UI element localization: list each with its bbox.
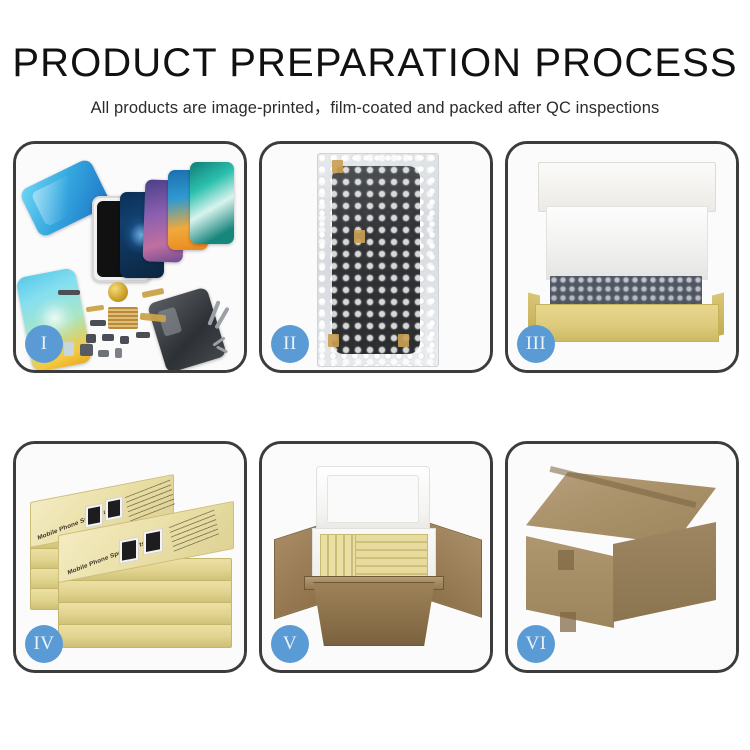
flex-cable [140, 313, 167, 323]
spare-part-chip [136, 332, 150, 338]
phone-display-teal [190, 162, 234, 244]
box-lid [538, 162, 716, 212]
carton-front [308, 582, 440, 646]
spare-part-chip [120, 336, 129, 344]
process-step-5[interactable]: V [259, 441, 493, 673]
tape-piece [354, 230, 365, 243]
step-badge-3: III [517, 325, 555, 363]
box-thumbnail [85, 503, 103, 528]
process-step-3[interactable]: III [505, 141, 739, 373]
page-root: PRODUCT PREPARATION PROCESS All products… [0, 0, 750, 750]
step-badge-1: I [25, 325, 63, 363]
box-stack: Mobile Phone Spare Parts Mobile Phone Sp… [28, 466, 234, 652]
header: PRODUCT PREPARATION PROCESS All products… [0, 0, 750, 118]
page-title: PRODUCT PREPARATION PROCESS [0, 0, 750, 84]
spare-part-chip [90, 320, 106, 326]
box-thumbnail [105, 496, 123, 521]
tape-piece [328, 334, 339, 347]
logic-board-chip [108, 307, 138, 329]
spare-part-chip [102, 334, 114, 341]
box-thumbnail [119, 536, 139, 564]
phone-back-housing [147, 287, 227, 373]
stacked-box [58, 580, 232, 604]
styrofoam-lid [316, 466, 430, 534]
flex-cable [142, 288, 165, 298]
spare-part-chip [86, 334, 96, 343]
flex-cable [86, 305, 105, 312]
box-thumbnail [143, 528, 163, 556]
step-badge-6: VI [517, 625, 555, 663]
tape-piece [398, 334, 409, 347]
process-step-1[interactable]: I [13, 141, 247, 373]
carton-tape-patch [558, 550, 574, 570]
spare-part-chip [98, 350, 109, 357]
process-step-4[interactable]: Mobile Phone Spare Parts Mobile Phone Sp… [13, 441, 247, 673]
stacked-box [58, 624, 232, 648]
process-step-6[interactable]: VI [505, 441, 739, 673]
sim-tray-part [64, 342, 74, 356]
step-badge-2: II [271, 325, 309, 363]
spare-part-chip [58, 290, 80, 295]
inner-boxes-vertical [320, 534, 356, 580]
tape-piece [332, 160, 343, 173]
step-badge-4: IV [25, 625, 63, 663]
process-step-2[interactable]: II [259, 141, 493, 373]
foam-sheet [546, 206, 708, 280]
box-spec-list [169, 510, 219, 552]
process-grid: I II III [13, 141, 739, 673]
step-badge-5: V [271, 625, 309, 663]
stacked-box [58, 602, 232, 626]
spare-part-chip [115, 348, 122, 358]
speaker-part [80, 344, 93, 356]
carton-tape-patch [560, 612, 576, 632]
page-subtitle: All products are image-printed，film-coat… [0, 84, 750, 118]
camera-module-icon [108, 282, 128, 302]
box-front-panel [535, 304, 719, 342]
